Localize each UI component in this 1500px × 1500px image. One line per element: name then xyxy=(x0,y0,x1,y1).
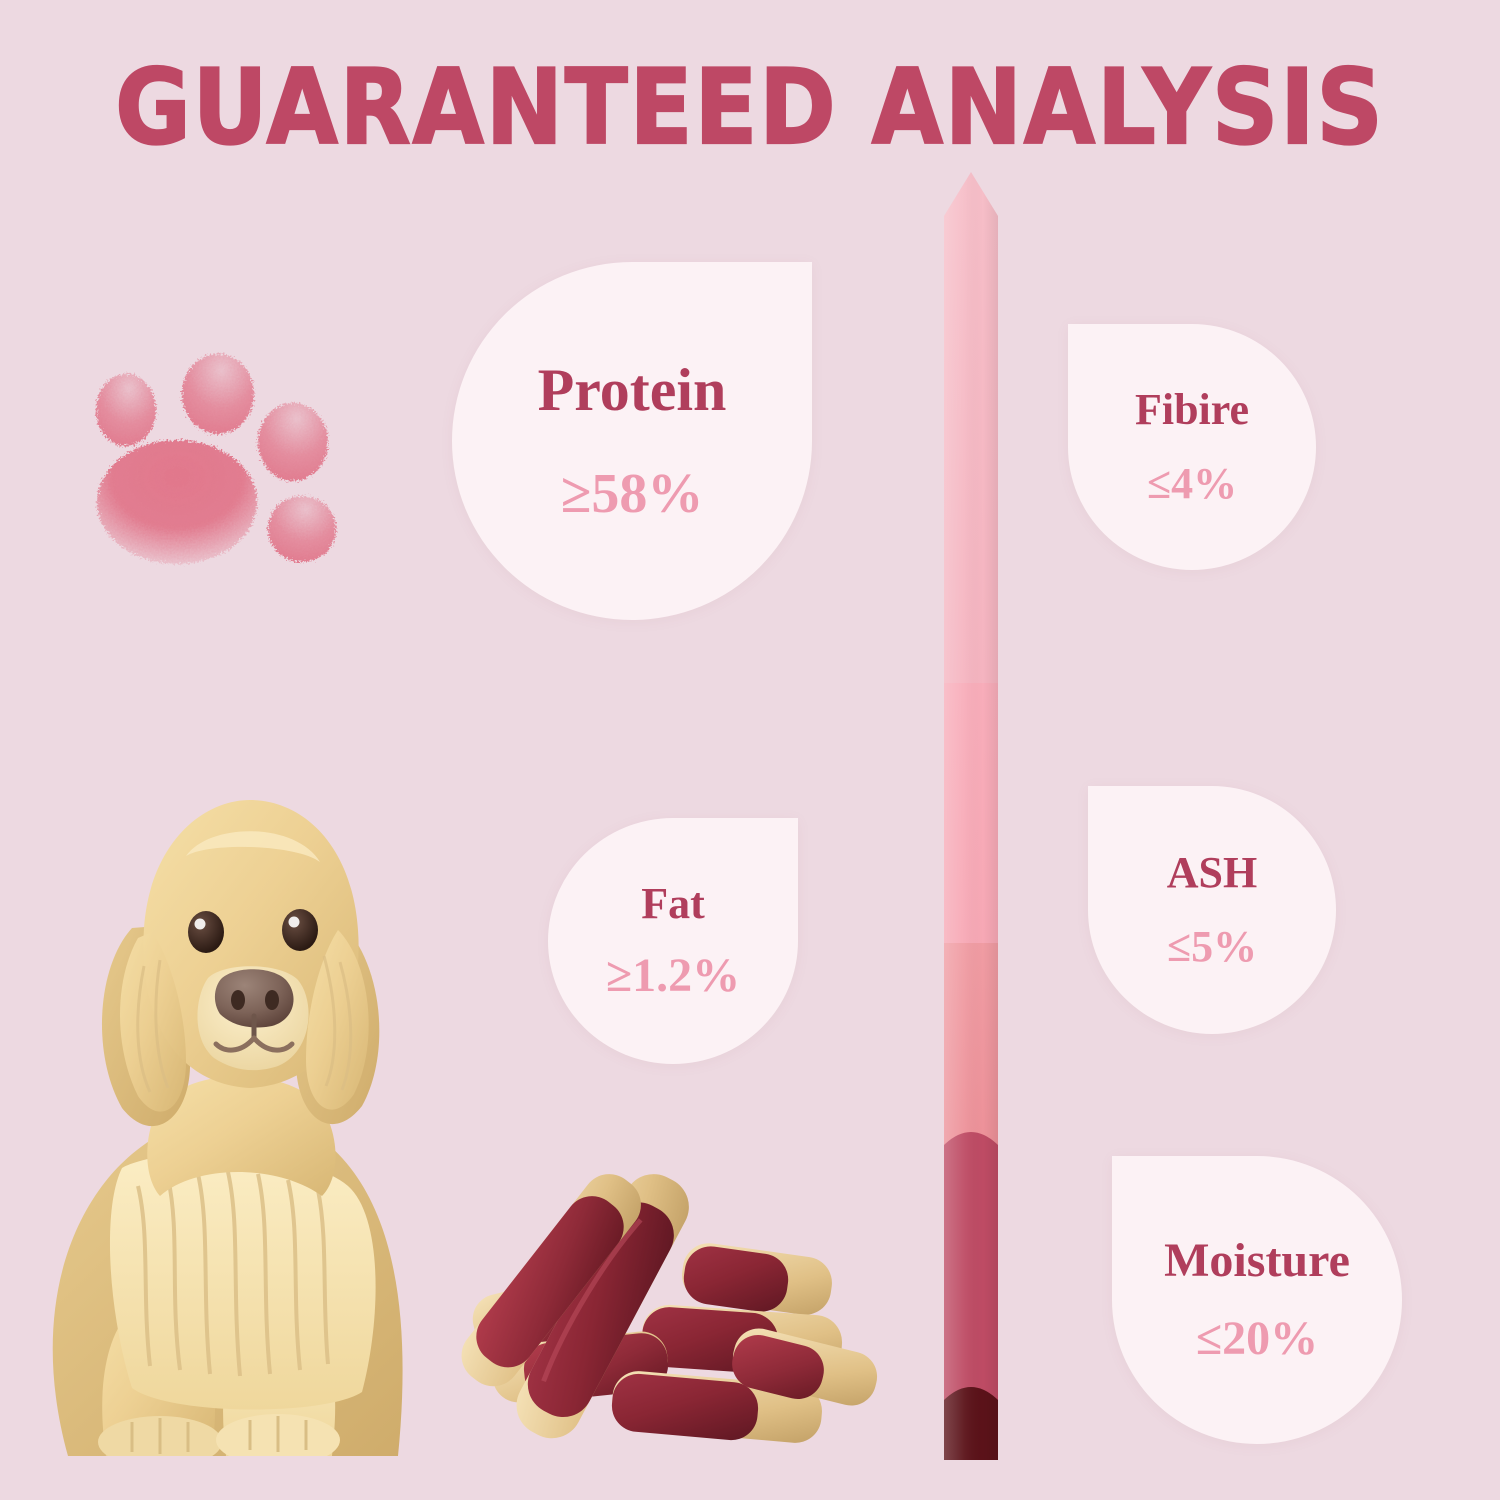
nutrient-bubble-protein[interactable]: Protein ≥58% xyxy=(452,262,812,620)
nutrient-value: ≥1.2% xyxy=(606,952,740,1000)
nutrient-label: Fibire xyxy=(1135,388,1249,432)
nutrient-label: Moisture xyxy=(1164,1237,1350,1285)
page-title: GUARANTEED ANALYSIS xyxy=(0,48,1500,168)
nutrient-value: ≥58% xyxy=(561,466,704,522)
upward-arrow-gauge xyxy=(944,172,998,1460)
nutrient-label: Protein xyxy=(538,360,727,420)
nutrient-bubble-ash[interactable]: ASH ≤5% xyxy=(1088,786,1336,1034)
nutrient-bubble-moisture[interactable]: Moisture ≤20% xyxy=(1112,1156,1402,1444)
nutrient-label: Fat xyxy=(641,882,705,926)
paw-print-icon xyxy=(74,342,358,604)
nutrient-label: ASH xyxy=(1167,851,1257,895)
nutrient-bubble-fat[interactable]: Fat ≥1.2% xyxy=(548,818,798,1064)
nutrient-value: ≤5% xyxy=(1167,925,1257,969)
nutrient-value: ≤20% xyxy=(1196,1315,1318,1363)
poster-canvas: GUARANTEED ANALYSIS xyxy=(0,0,1500,1500)
wrapped-dog-treats xyxy=(432,1142,894,1464)
nutrient-bubble-fibire[interactable]: Fibire ≤4% xyxy=(1068,324,1316,570)
nutrient-value: ≤4% xyxy=(1147,462,1237,506)
